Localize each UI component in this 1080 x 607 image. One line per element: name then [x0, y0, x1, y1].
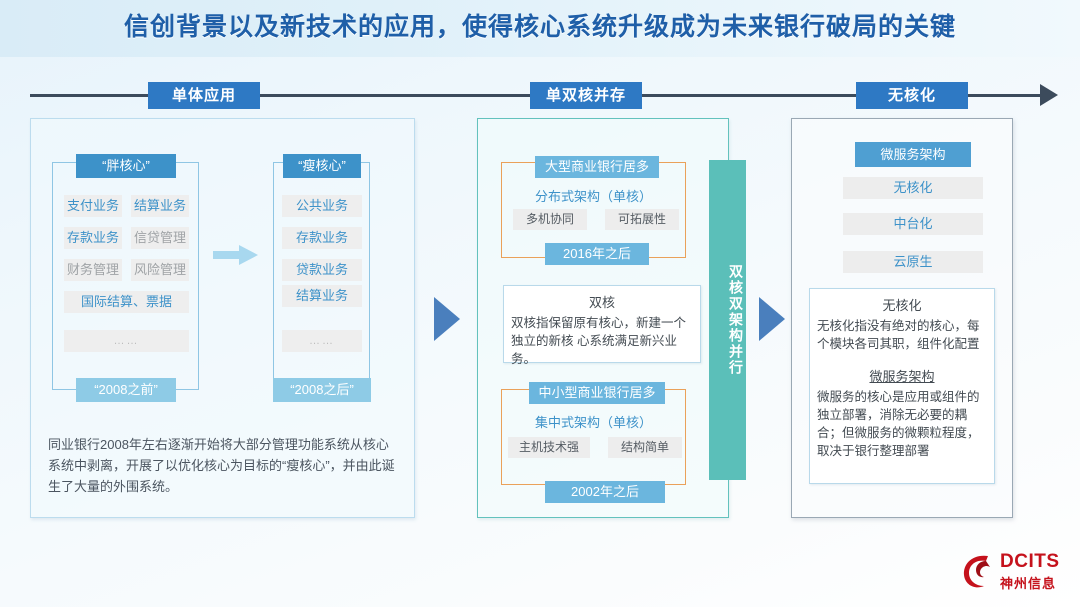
fat-core-header: “胖核心” — [76, 154, 176, 178]
thin-core-item[interactable]: 存款业务 — [282, 227, 362, 249]
stage3-header: 微服务架构 — [855, 142, 971, 167]
fat-core-item[interactable]: 结算业务 — [131, 195, 189, 217]
dual-core-bar-label: 双核双架构并行 — [709, 235, 746, 405]
stage2-top-tag[interactable]: 多机协同 — [513, 209, 587, 230]
fat-core-footer: “2008之前” — [76, 378, 176, 402]
stage3-item[interactable]: 云原生 — [843, 251, 983, 273]
stage2-bottom-tag[interactable]: 结构简单 — [608, 437, 682, 458]
stage2-bottom-header: 中小型商业银行居多 — [529, 382, 665, 404]
company-logo: DCITS 神州信息 — [962, 548, 1070, 596]
timeline-stage-1[interactable]: 单体应用 — [148, 82, 260, 109]
stage2-center-card-title: 双核 — [504, 292, 700, 311]
page-title: 信创背景以及新技术的应用，使得核心系统升级成为未来银行破局的关键 — [0, 7, 1080, 43]
stage2-center-card-body: 双核指保留原有核心，新建一个独立的新核 心系统满足新兴业务。 — [504, 314, 700, 368]
thin-core-header: “瘦核心” — [283, 154, 361, 178]
fat-core-item[interactable]: 财务管理 — [64, 259, 122, 281]
thin-core-item[interactable]: 公共业务 — [282, 195, 362, 217]
transition-arrow-icon — [213, 244, 259, 266]
timeline-arrow-icon — [1040, 84, 1058, 106]
stage2-bottom-subtitle: 集中式架构（单核） — [501, 412, 686, 431]
thin-core-item[interactable]: 结算业务 — [282, 285, 362, 307]
stage1-caption: 同业银行2008年左右逐渐开始将大部分管理功能系统从核心系统中剥离，开展了以优化… — [44, 432, 402, 506]
thin-core-footer: “2008之后” — [273, 378, 371, 402]
fat-core-item[interactable]: 国际结算、票据 — [64, 291, 189, 313]
stage2-top-tag[interactable]: 可拓展性 — [605, 209, 679, 230]
stage2-bottom-footer: 2002年之后 — [545, 481, 665, 503]
fat-core-item[interactable]: 支付业务 — [64, 195, 122, 217]
fat-core-item[interactable]: 存款业务 — [64, 227, 122, 249]
timeline-stage-2[interactable]: 单双核并存 — [530, 82, 642, 109]
stage2-bottom-tag[interactable]: 主机技术强 — [508, 437, 590, 458]
chevron-right-icon-1 — [434, 297, 460, 341]
thin-core-item[interactable]: 贷款业务 — [282, 259, 362, 281]
fat-core-item[interactable]: 风险管理 — [131, 259, 189, 281]
logo-brand-cn: 神州信息 — [1000, 573, 1056, 592]
stage3-card-body-1: 无核化指没有绝对的核心，每个模块各司其职，组件化配置 — [810, 317, 994, 353]
stage2-center-card: 双核 双核指保留原有核心，新建一个独立的新核 心系统满足新兴业务。 — [503, 285, 701, 363]
timeline-stage-3[interactable]: 无核化 — [856, 82, 968, 109]
thin-core-item-ellipsis: …… — [282, 330, 362, 352]
stage2-top-subtitle: 分布式架构（单核） — [501, 186, 686, 205]
stage2-top-header: 大型商业银行居多 — [535, 156, 659, 178]
stage2-top-footer: 2016年之后 — [545, 243, 649, 265]
stage3-card-body-2: 微服务的核心是应用或组件的独立部署，消除无必要的耦合；但微服务的微颗粒程度，取决… — [810, 388, 994, 460]
fat-core-item[interactable]: 信贷管理 — [131, 227, 189, 249]
stage3-card-title-2: 微服务架构 — [810, 366, 994, 385]
fat-core-item-ellipsis: …… — [64, 330, 189, 352]
stage3-item[interactable]: 中台化 — [843, 213, 983, 235]
stage3-card-title-1: 无核化 — [810, 295, 994, 314]
stage3-item[interactable]: 无核化 — [843, 177, 983, 199]
logo-brand: DCITS — [1000, 551, 1060, 573]
chevron-right-icon-2 — [759, 297, 785, 341]
stage3-card: 无核化 无核化指没有绝对的核心，每个模块各司其职，组件化配置 微服务架构 微服务… — [809, 288, 995, 484]
dcits-swirl-icon — [962, 552, 996, 590]
